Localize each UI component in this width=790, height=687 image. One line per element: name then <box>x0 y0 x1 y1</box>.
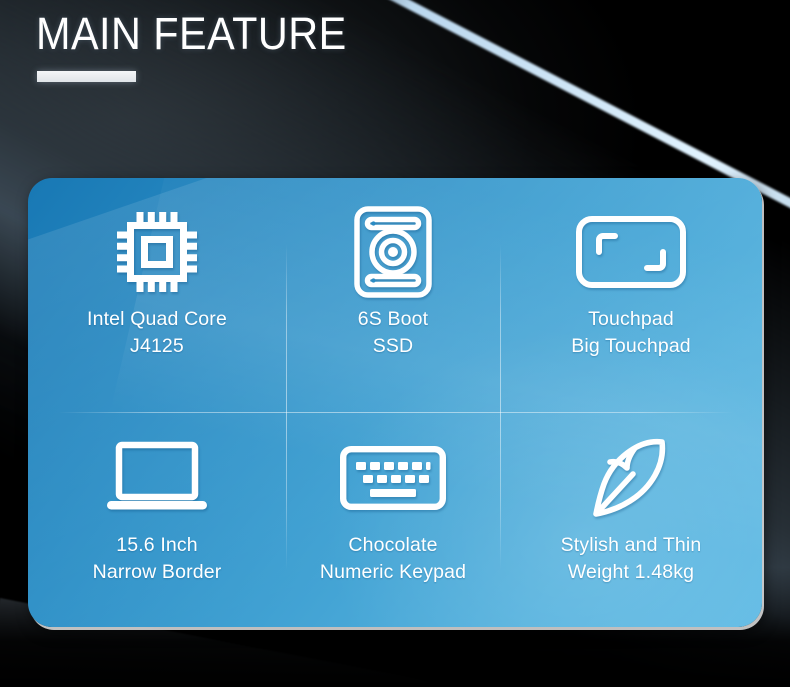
feature-label-cpu: Intel Quad Core J4125 <box>87 306 227 360</box>
keyboard-icon <box>340 430 446 526</box>
feature-cell-weight: Stylish and Thin Weight 1.48kg <box>500 412 762 627</box>
feature-label-line2: Weight 1.48kg <box>561 559 702 586</box>
feature-panel: Intel Quad Core J4125 <box>28 178 762 627</box>
feature-cell-touchpad: Touchpad Big Touchpad <box>500 178 762 412</box>
feature-label-line1: Touchpad <box>588 308 674 330</box>
feature-label-line2: Narrow Border <box>93 559 222 586</box>
feature-label-weight: Stylish and Thin Weight 1.48kg <box>561 532 702 586</box>
feature-label-line1: 6S Boot <box>358 308 428 330</box>
feature-label-line2: J4125 <box>87 333 227 360</box>
promo-banner: MAIN FEATURE <box>0 0 790 687</box>
laptop-icon <box>103 430 211 526</box>
title-underline-rule <box>37 71 136 82</box>
feature-label-line2: SSD <box>358 333 428 360</box>
cpu-chip-icon <box>111 204 203 300</box>
feature-label-line1: Chocolate <box>348 534 437 556</box>
feature-label-line2: Big Touchpad <box>571 333 691 360</box>
feature-cell-display: 15.6 Inch Narrow Border <box>28 412 286 627</box>
feature-cell-keyboard: Chocolate Numeric Keypad <box>286 412 500 627</box>
feature-label-line1: Stylish and Thin <box>561 534 702 556</box>
feature-grid: Intel Quad Core J4125 <box>28 178 762 627</box>
touchpad-icon <box>575 204 687 300</box>
feature-label-keyboard: Chocolate Numeric Keypad <box>320 532 466 586</box>
feature-cell-cpu: Intel Quad Core J4125 <box>28 178 286 412</box>
ssd-drive-icon <box>353 204 433 300</box>
feature-cell-ssd: 6S Boot SSD <box>286 178 500 412</box>
feature-label-ssd: 6S Boot SSD <box>358 306 428 360</box>
feature-label-line1: 15.6 Inch <box>116 534 198 556</box>
feature-label-display: 15.6 Inch Narrow Border <box>93 532 222 586</box>
feature-label-line1: Intel Quad Core <box>87 308 227 330</box>
page-title: MAIN FEATURE <box>36 6 347 62</box>
feature-label-touchpad: Touchpad Big Touchpad <box>571 306 691 360</box>
feather-icon <box>589 430 673 526</box>
feature-label-line2: Numeric Keypad <box>320 559 466 586</box>
